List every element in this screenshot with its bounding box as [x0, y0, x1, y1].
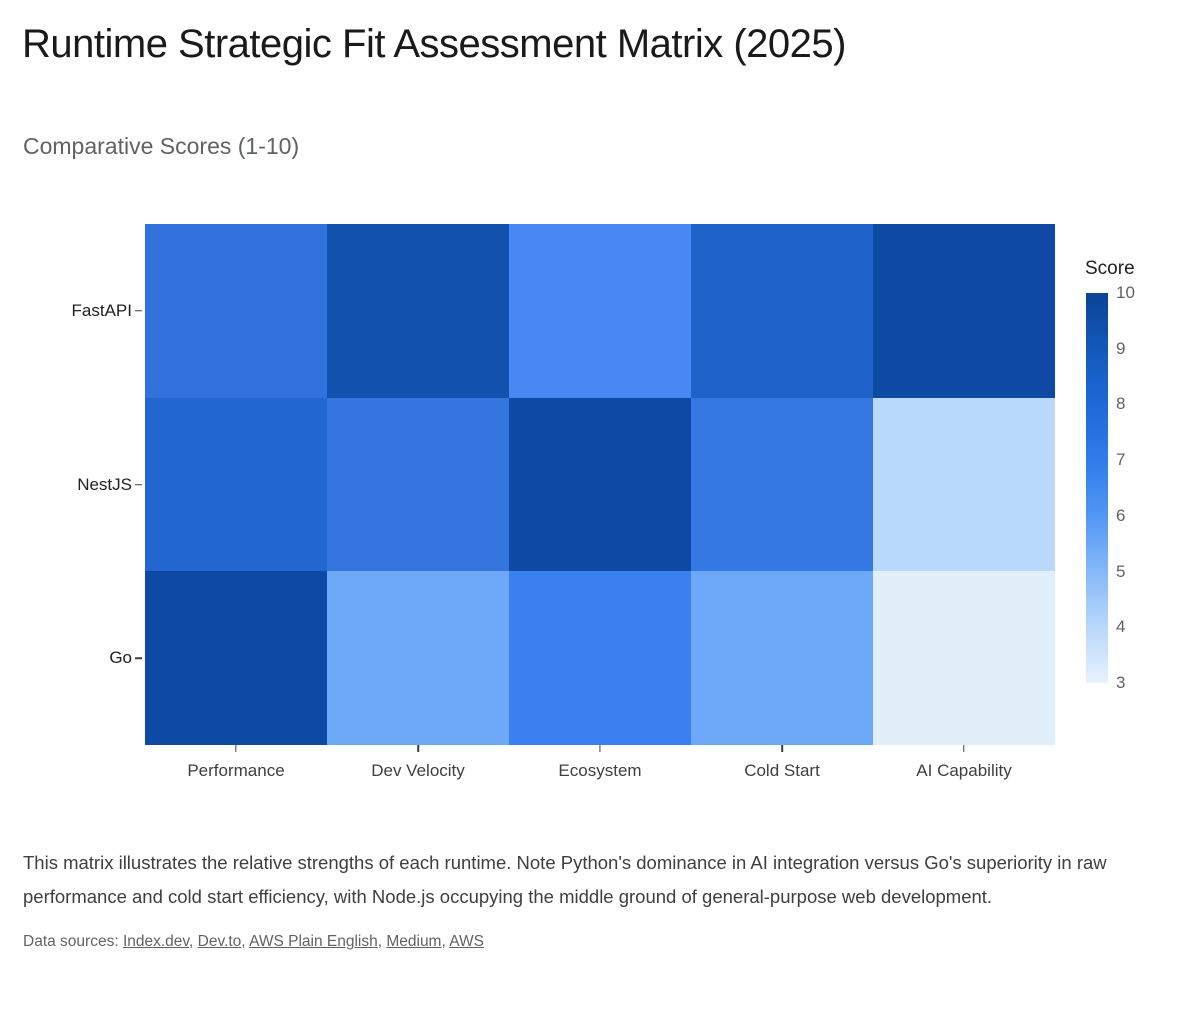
colorbar-gradient — [1086, 293, 1108, 683]
chart-description: This matrix illustrates the relative str… — [23, 846, 1168, 914]
data-source-link[interactable]: Dev.to — [198, 933, 242, 950]
data-source-link[interactable]: Medium — [386, 933, 441, 950]
heatmap-cell[interactable] — [145, 398, 327, 572]
colorbar-tick-label: 8 — [1116, 394, 1125, 414]
heatmap-cell[interactable] — [145, 224, 327, 398]
x-axis-tick: Dev Velocity — [371, 745, 465, 781]
data-source-separator: , — [189, 933, 198, 950]
x-axis-tick: Performance — [187, 745, 284, 781]
heatmap-cell[interactable] — [691, 224, 873, 398]
data-sources-label: Data sources: — [23, 933, 123, 950]
x-axis-tick: Cold Start — [744, 745, 820, 781]
x-axis-tick-label: AI Capability — [916, 761, 1011, 781]
heatmap-cell[interactable] — [327, 571, 509, 745]
data-source-link[interactable]: AWS Plain English — [249, 933, 378, 950]
x-axis-tick-label: Dev Velocity — [371, 761, 465, 781]
y-axis-tick-label: FastAPI — [72, 301, 132, 321]
data-sources: Data sources: Index.dev, Dev.to, AWS Pla… — [23, 933, 1173, 951]
page-subtitle: Comparative Scores (1-10) — [23, 133, 299, 160]
colorbar-tick-label: 4 — [1116, 617, 1125, 637]
heatmap-chart: FastAPINestJSGo PerformanceDev VelocityE… — [0, 200, 1200, 810]
y-axis-tick-label: Go — [109, 648, 132, 668]
x-axis-tick-mark — [781, 745, 783, 752]
y-axis-tick-mark — [135, 657, 142, 659]
colorbar-tick-label: 10 — [1116, 283, 1135, 303]
colorbar-tick-label: 7 — [1116, 450, 1125, 470]
heatmap-cell[interactable] — [145, 571, 327, 745]
heatmap-cell[interactable] — [691, 571, 873, 745]
y-axis-tick-mark — [135, 484, 142, 486]
x-axis-tick-mark — [599, 745, 601, 752]
heatmap-cell[interactable] — [509, 398, 691, 572]
heatmap-cell[interactable] — [691, 398, 873, 572]
colorbar-tick-label: 6 — [1116, 506, 1125, 526]
x-axis-tick-label: Ecosystem — [558, 761, 641, 781]
x-axis-tick-label: Cold Start — [744, 761, 820, 781]
x-axis-tick: Ecosystem — [558, 745, 641, 781]
colorbar-tick-label: 5 — [1116, 562, 1125, 582]
y-axis-tick-mark — [135, 310, 142, 312]
heatmap-cell[interactable] — [873, 571, 1055, 745]
colorbar-title: Score — [1085, 258, 1135, 280]
chart-page: Runtime Strategic Fit Assessment Matrix … — [0, 0, 1200, 1020]
data-source-link[interactable]: AWS — [449, 933, 484, 950]
page-title: Runtime Strategic Fit Assessment Matrix … — [22, 22, 846, 67]
heatmap-cell[interactable] — [509, 224, 691, 398]
colorbar-legend: Score 109876543 — [1085, 258, 1195, 698]
y-axis-tick-label: NestJS — [77, 475, 132, 495]
heatmap-cell[interactable] — [873, 398, 1055, 572]
x-axis-tick-label: Performance — [187, 761, 284, 781]
heatmap-cell[interactable] — [873, 224, 1055, 398]
x-axis-tick-mark — [963, 745, 965, 752]
x-axis-tick-mark — [417, 745, 419, 752]
x-axis-tick: AI Capability — [916, 745, 1011, 781]
x-axis: PerformanceDev VelocityEcosystemCold Sta… — [145, 745, 1055, 795]
chart-footer: This matrix illustrates the relative str… — [23, 846, 1173, 951]
y-axis: FastAPINestJSGo — [0, 224, 145, 745]
x-axis-tick-mark — [235, 745, 237, 752]
colorbar-tick-label: 3 — [1116, 673, 1125, 693]
data-source-separator: , — [241, 933, 249, 950]
data-source-link[interactable]: Index.dev — [123, 933, 189, 950]
colorbar-tick-label: 9 — [1116, 339, 1125, 359]
heatmap-plot — [145, 224, 1055, 745]
heatmap-cell[interactable] — [509, 571, 691, 745]
heatmap-cell[interactable] — [327, 224, 509, 398]
heatmap-cell[interactable] — [327, 398, 509, 572]
